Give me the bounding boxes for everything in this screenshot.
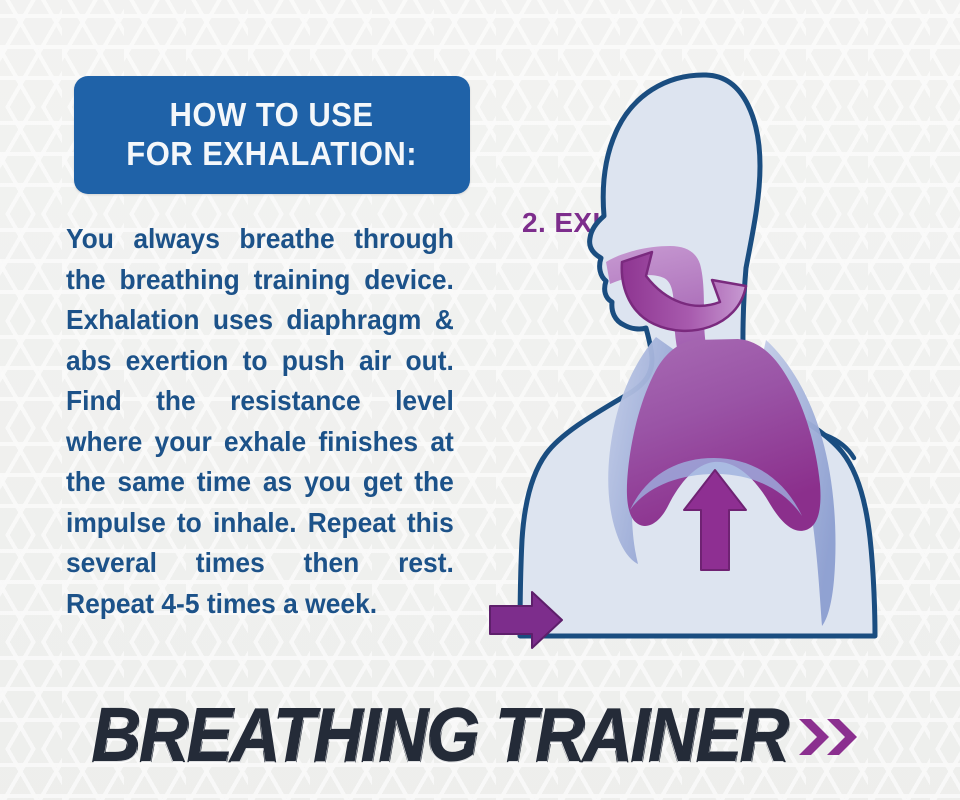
word: as <box>263 462 292 503</box>
paragraph-line: the same time as you get the <box>66 462 454 503</box>
word: You <box>66 219 114 260</box>
paragraph-line: Repeat 4-5 times a week. <box>66 584 454 625</box>
brand-title: BREATHING TRAINER <box>92 692 788 779</box>
word: through <box>354 219 454 260</box>
word: breathe <box>239 219 334 260</box>
paragraph-line: where your exhale finishes at <box>66 422 454 463</box>
word: uses <box>213 300 273 341</box>
word: where <box>66 422 142 463</box>
word: to <box>177 503 202 544</box>
word: Find <box>66 381 122 422</box>
word: the <box>156 381 196 422</box>
header-banner: HOW TO USE FOR EXHALATION: <box>74 76 470 194</box>
word: the <box>66 260 106 301</box>
word: finishes <box>318 422 418 463</box>
paragraph-line: Find the resistance level <box>66 381 454 422</box>
word: the <box>66 462 106 503</box>
double-chevron-right-icon <box>795 713 861 761</box>
paragraph-line: You always breathe through <box>66 219 454 260</box>
paragraph-line: several times then rest. <box>66 543 454 584</box>
word: same <box>117 462 185 503</box>
word: times <box>196 543 265 584</box>
word: impulse <box>66 503 166 544</box>
word: exhale <box>224 422 306 463</box>
word: diaphragm <box>286 300 421 341</box>
word: device. <box>364 260 454 301</box>
word: at <box>430 422 453 463</box>
word: the <box>414 462 454 503</box>
word: this <box>407 503 454 544</box>
word: time <box>197 462 251 503</box>
word: you <box>304 462 351 503</box>
respiration-figure <box>470 40 960 660</box>
infographic-poster: HOW TO USE FOR EXHALATION: You always br… <box>0 0 960 800</box>
word: get <box>363 462 403 503</box>
word: then <box>304 543 360 584</box>
banner-title-line-2: FOR EXHALATION: <box>127 135 418 174</box>
word: air <box>359 341 391 382</box>
word: resistance <box>230 381 361 422</box>
paragraph-line: impulse to inhale. Repeat this <box>66 503 454 544</box>
word: several <box>66 543 157 584</box>
word: to <box>243 341 268 382</box>
word: rest. <box>398 543 454 584</box>
paragraph-line: Exhalation uses diaphragm & <box>66 300 454 341</box>
word: always <box>133 219 220 260</box>
word: training <box>254 260 351 301</box>
footer-wordmark: BREATHING TRAINER <box>0 690 960 780</box>
word: abs <box>66 341 111 382</box>
word: breathing <box>119 260 239 301</box>
banner-title-line-1: HOW TO USE <box>170 96 374 135</box>
word: Exhalation <box>66 300 200 341</box>
paragraph-line: abs exertion to push air out. <box>66 341 454 382</box>
word: Repeat <box>308 503 396 544</box>
word: & <box>435 300 454 341</box>
word: inhale. <box>213 503 297 544</box>
paragraph-line: the breathing training device. <box>66 260 454 301</box>
word: your <box>155 422 212 463</box>
word: out. <box>405 341 453 382</box>
word: exertion <box>126 341 229 382</box>
word: level <box>395 381 454 422</box>
instructions-paragraph: You always breathe through the breathing… <box>66 219 470 624</box>
word: push <box>282 341 345 382</box>
